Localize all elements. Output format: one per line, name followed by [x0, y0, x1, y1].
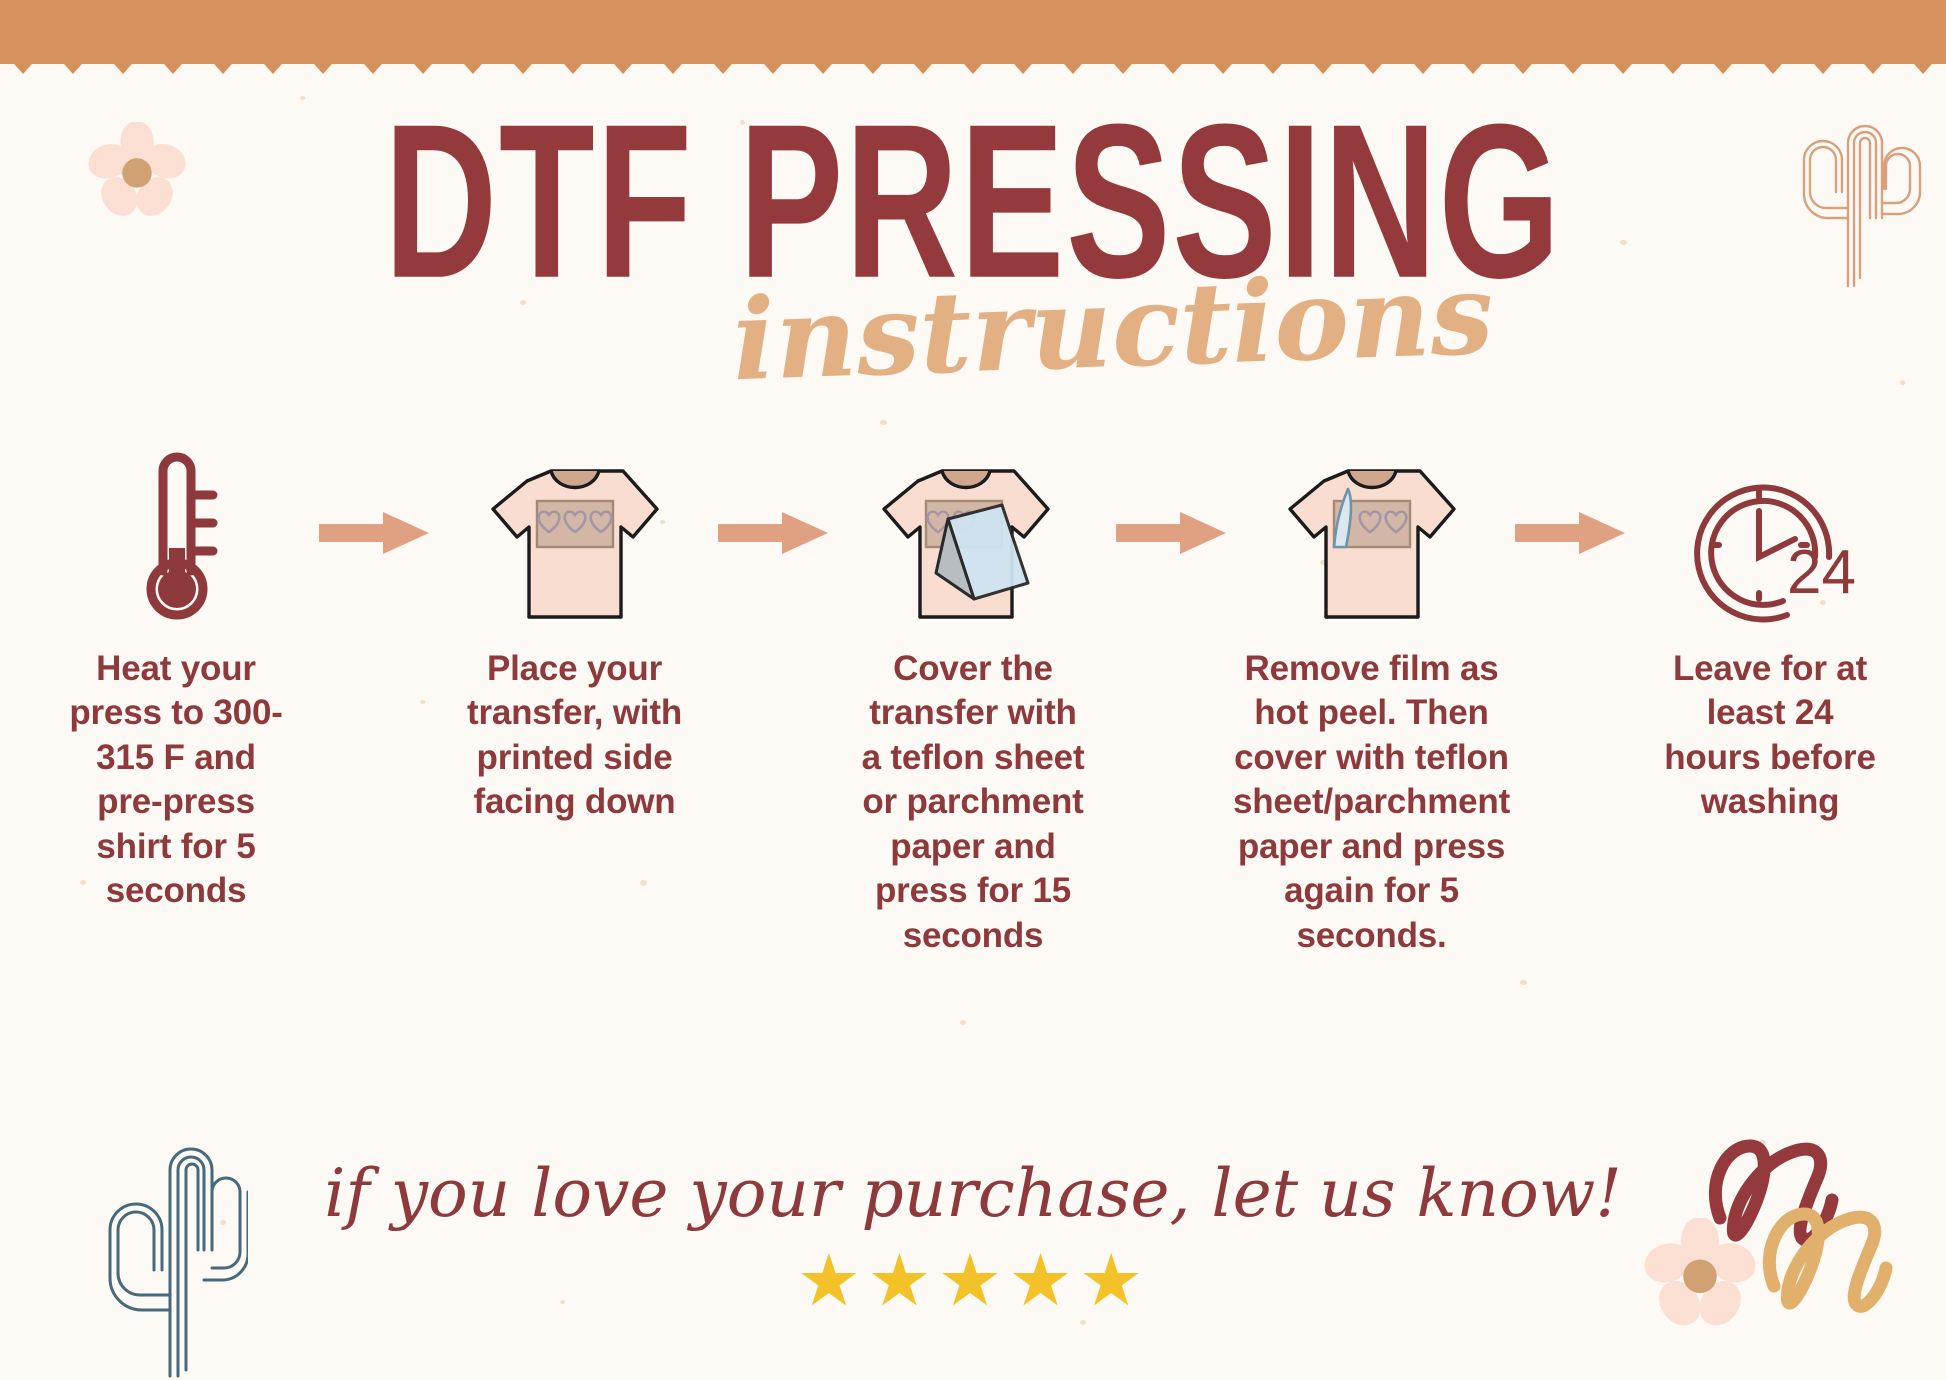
step-2-iconbox	[475, 440, 675, 625]
step-5-iconbox: 24	[1670, 440, 1870, 625]
tshirt-peel-film-icon	[1284, 465, 1460, 625]
arrow-cell-1	[304, 440, 446, 625]
step-1: Heat your press to 300-315 F and pre-pre…	[60, 440, 292, 914]
arrow-cell-4	[1500, 440, 1642, 625]
step-1-caption: Heat your press to 300-315 F and pre-pre…	[60, 647, 292, 914]
tshirt-teflon-sheet-icon	[878, 465, 1068, 625]
steps-row: Heat your press to 300-315 F and pre-pre…	[60, 440, 1886, 1080]
arrow-right-icon	[1116, 510, 1228, 556]
clock-24-icon: 24	[1683, 465, 1857, 625]
arrow-cell-3	[1101, 440, 1243, 625]
step-2: Place your transfer, with printed side f…	[459, 440, 691, 825]
arrow-cell-2	[703, 440, 845, 625]
rating-stars: ★★★★★	[0, 1245, 1946, 1317]
step-4: Remove film as hot peel. Then cover with…	[1256, 440, 1488, 958]
thermometer-icon	[130, 443, 222, 625]
step-2-caption: Place your transfer, with printed side f…	[459, 647, 691, 825]
cactus-icon	[1778, 88, 1928, 288]
step-3: Cover the transfer with a teflon sheet o…	[857, 440, 1089, 958]
step-4-caption: Remove film as hot peel. Then cover with…	[1233, 647, 1510, 958]
poster-canvas: DTF PRESSING instructions	[0, 0, 1946, 1380]
arrow-right-icon	[718, 510, 830, 556]
step-5-caption: Leave for at least 24 hours before washi…	[1654, 647, 1886, 825]
step-4-iconbox	[1272, 440, 1472, 625]
zigzag-border-icon	[0, 40, 1946, 74]
step-1-iconbox	[76, 440, 276, 625]
arrow-right-icon	[319, 510, 431, 556]
arrow-right-icon	[1515, 510, 1627, 556]
step-3-caption: Cover the transfer with a teflon sheet o…	[857, 647, 1089, 958]
step-3-iconbox	[873, 440, 1073, 625]
step-5: 24 Leave for at least 24 hours before wa…	[1654, 440, 1886, 825]
clock-24-label: 24	[1787, 538, 1856, 607]
flower-icon	[88, 122, 186, 220]
footer-message: if you love your purchase, let us know!	[0, 1155, 1946, 1232]
tshirt-transfer-icon	[487, 465, 663, 625]
